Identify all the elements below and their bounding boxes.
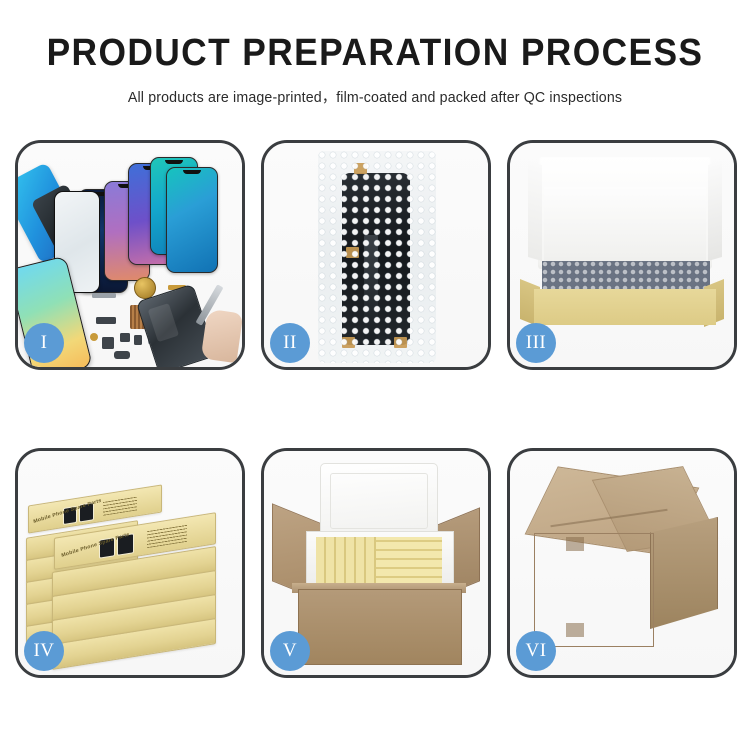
foam-lid-icon xyxy=(320,463,438,539)
small-part-icon-5 xyxy=(102,337,114,349)
carton-tab-lower xyxy=(566,623,584,637)
yellow-boxes-row-2 xyxy=(376,537,442,585)
small-part-icon-2 xyxy=(120,333,130,342)
page-header: PRODUCT PREPARATION PROCESS All products… xyxy=(0,0,750,107)
step-badge-2: II xyxy=(270,323,310,363)
step-badge-5: V xyxy=(270,631,310,671)
carton-tab-upper xyxy=(566,537,584,551)
process-step-card-5[interactable]: V xyxy=(261,448,491,678)
bubble-texture xyxy=(318,151,436,363)
process-step-card-3[interactable]: III xyxy=(507,140,737,370)
hand-icon xyxy=(201,309,242,364)
bubble-bag xyxy=(318,151,436,363)
small-part-icon-1 xyxy=(96,317,116,324)
notch-icon xyxy=(165,160,183,164)
small-part-icon-3 xyxy=(134,335,142,345)
flex-part-icon xyxy=(92,293,116,298)
step-badge-4: IV xyxy=(24,631,64,671)
lid-spec-lines-b xyxy=(147,525,187,548)
process-step-card-6[interactable]: VI xyxy=(507,448,737,678)
lid-spec-lines-a xyxy=(103,495,137,515)
carton-side-face xyxy=(650,517,718,629)
page-title: PRODUCT PREPARATION PROCESS xyxy=(26,34,724,74)
step-badge-6: VI xyxy=(516,631,556,671)
process-step-grid: I II III xyxy=(15,140,735,678)
process-step-card-4[interactable]: Mobile Phone Spare Parts Mobile Phone Sp… xyxy=(15,448,245,678)
camera-part-icon xyxy=(114,351,130,359)
step-badge-3: III xyxy=(516,323,556,363)
box-front-face xyxy=(534,289,716,325)
process-step-card-1[interactable]: I xyxy=(15,140,245,370)
bubble-wrap-fill-icon xyxy=(542,261,710,291)
phone-screen-icon-3 xyxy=(166,167,218,273)
carton-front-face xyxy=(534,533,654,647)
foam-sheet-icon xyxy=(544,187,706,261)
carton-front-face xyxy=(298,589,462,665)
notch-icon xyxy=(183,170,201,174)
screw-icon xyxy=(90,333,98,341)
process-step-card-2[interactable]: II xyxy=(261,140,491,370)
step-badge-1: I xyxy=(24,323,64,363)
page-subtitle: All products are image-printed，film-coat… xyxy=(8,86,743,107)
